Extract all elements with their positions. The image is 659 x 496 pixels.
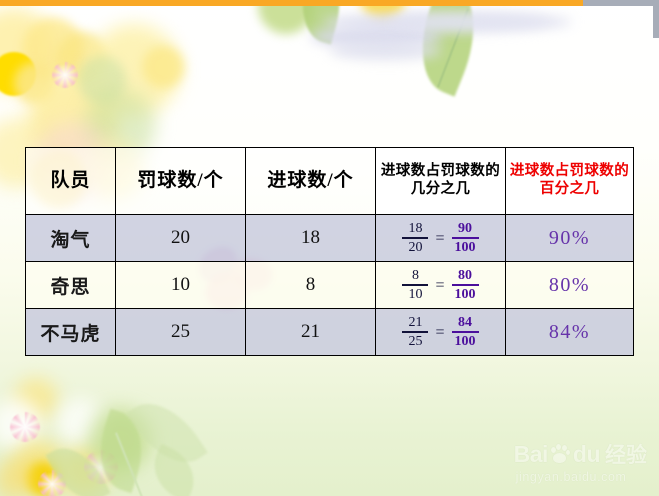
fraction-simple: 21 25 <box>402 315 428 349</box>
header-percentage: 进球数占罚球数的百分之几 <box>506 148 634 215</box>
cell-fraction: 21 25 = 84 100 <box>376 309 506 356</box>
leaf-stem <box>115 432 143 496</box>
bokeh-circle <box>12 440 64 492</box>
leaf-shape <box>403 0 494 97</box>
paw-print-icon <box>550 444 571 464</box>
fraction-simple: 18 20 <box>402 221 428 255</box>
top-accent-bar-gray <box>583 0 659 6</box>
bokeh-circle <box>0 52 36 96</box>
top-accent-bar-orange <box>0 0 583 6</box>
sparkle-icon <box>84 450 118 484</box>
bokeh-circle <box>60 448 108 496</box>
fraction-bar <box>452 284 479 286</box>
brush-stroke <box>330 42 442 60</box>
fraction-percent-form: 90 100 <box>452 221 479 255</box>
equals-sign: = <box>435 231 444 247</box>
header-free-throws: 罚球数/个 <box>116 148 246 215</box>
watermark-brand-row: Bai du 经验 <box>514 439 647 469</box>
watermark-brand-du: du <box>573 441 600 468</box>
sparkle-icon <box>10 412 40 442</box>
bokeh-circle <box>78 56 126 104</box>
fraction-equation: 21 25 = 84 100 <box>376 315 505 349</box>
cell-free-throws: 25 <box>116 309 246 356</box>
fraction-bar <box>402 237 428 239</box>
watermark-brand-bai: Bai <box>514 441 548 468</box>
bokeh-circle <box>56 398 104 446</box>
fraction-bar <box>452 237 479 239</box>
cell-goals: 8 <box>246 262 376 309</box>
header-player: 队员 <box>26 148 116 215</box>
brush-stroke <box>388 16 548 28</box>
table-row: 奇思 10 8 8 10 = 80 100 <box>26 262 634 309</box>
fraction-simple: 8 10 <box>402 268 428 302</box>
table-row: 淘气 20 18 18 20 = 90 100 <box>26 215 634 262</box>
bokeh-circle <box>0 8 56 92</box>
bokeh-circle <box>88 24 180 116</box>
cell-player-name: 不马虎 <box>26 309 116 356</box>
watermark-brand-cn: 经验 <box>605 439 647 469</box>
bokeh-circle <box>26 462 60 496</box>
bokeh-circle <box>22 18 84 80</box>
free-throw-statistics-table: 队员 罚球数/个 进球数/个 进球数占罚球数的几分之几 进球数占罚球数的百分之几… <box>25 147 634 356</box>
fraction-percent-form: 84 100 <box>452 315 479 349</box>
cell-percentage: 84% <box>506 309 634 356</box>
bokeh-circle <box>0 460 34 496</box>
header-fraction: 进球数占罚球数的几分之几 <box>376 148 506 215</box>
fraction-equation: 8 10 = 80 100 <box>376 268 505 302</box>
leaf-shape <box>143 444 205 496</box>
brush-stroke <box>322 12 572 32</box>
equals-sign: = <box>435 325 444 341</box>
bokeh-circle <box>14 62 56 104</box>
bokeh-circle <box>14 378 58 422</box>
fraction-equation: 18 20 = 90 100 <box>376 221 505 255</box>
brush-stroke <box>310 26 442 48</box>
leaf-shape <box>126 388 208 478</box>
cell-player-name: 淘气 <box>26 215 116 262</box>
equals-sign: = <box>435 278 444 294</box>
fraction-percent-form: 80 100 <box>452 268 479 302</box>
leaf-stem <box>437 8 469 87</box>
fraction-bar <box>402 331 428 333</box>
cell-goals: 21 <box>246 309 376 356</box>
cell-free-throws: 20 <box>116 215 246 262</box>
fraction-bar <box>402 284 428 286</box>
leaf-shape <box>45 436 110 496</box>
cell-percentage: 90% <box>506 215 634 262</box>
baidu-jingyan-watermark: Bai du 经验 jingyan.baidu.com <box>514 439 647 484</box>
fraction-bar <box>452 331 479 333</box>
leaf-shape <box>88 409 155 494</box>
right-accent-bar-gray <box>653 0 659 38</box>
cell-fraction: 18 20 = 90 100 <box>376 215 506 262</box>
sparkle-icon <box>52 62 78 88</box>
bokeh-circle <box>88 408 152 472</box>
cell-goals: 18 <box>246 215 376 262</box>
sparkle-icon <box>38 470 66 496</box>
bokeh-circle <box>56 32 108 84</box>
bokeh-circle <box>142 46 184 88</box>
table-header-row: 队员 罚球数/个 进球数/个 进球数占罚球数的几分之几 进球数占罚球数的百分之几 <box>26 148 634 215</box>
cell-percentage: 80% <box>506 262 634 309</box>
leaf-shape <box>291 0 352 44</box>
cell-fraction: 8 10 = 80 100 <box>376 262 506 309</box>
watermark-url: jingyan.baidu.com <box>516 470 647 484</box>
cell-player-name: 奇思 <box>26 262 116 309</box>
table-row: 不马虎 25 21 21 25 = 84 100 <box>26 309 634 356</box>
header-goals: 进球数/个 <box>246 148 376 215</box>
slide-canvas: 队员 罚球数/个 进球数/个 进球数占罚球数的几分之几 进球数占罚球数的百分之几… <box>0 0 659 496</box>
cell-free-throws: 10 <box>116 262 246 309</box>
bokeh-circle <box>0 398 42 450</box>
